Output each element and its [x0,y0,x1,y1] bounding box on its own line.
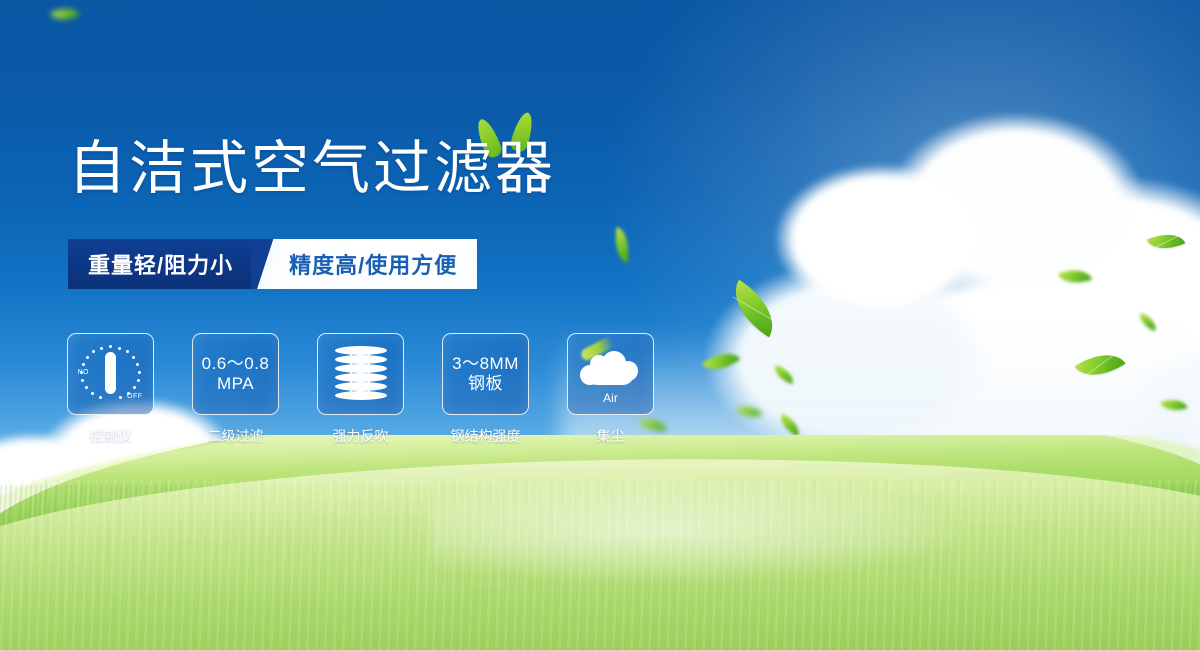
subtitle-right-segment: 精度高/使用方便 [281,239,477,289]
pressure-unit: MPA [202,374,270,394]
page-title: 自洁式空气过滤器 [68,140,556,198]
feature-item-two-stage-filter[interactable]: 0.6～0.8 MPA 二级过滤 [193,333,278,446]
feature-item-control-panel[interactable]: NO OFF [68,333,153,446]
cloud-body [586,363,634,385]
feature-label: 钢结构强度 [451,426,521,446]
pressure-text-icon: 0.6～0.8 MPA [202,354,270,394]
feature-icon-box: 3～8MM 钢板 [442,333,529,415]
feature-label: 控制仪 [90,426,132,446]
feature-label: 集尘 [597,426,625,446]
pressure-value: 0.6～0.8 [202,354,270,373]
subtitle-left-segment: 重量轻/阻力小 [68,239,251,289]
subtitle-slant-divider [251,239,281,289]
cloud-air-icon: Air [578,345,644,403]
product-hero-banner: 自洁式空气过滤器 重量轻/阻力小 精度高/使用方便 NO OFF [0,0,1200,650]
steel-thickness: 3～8MM [452,354,519,373]
air-label: Air [578,391,644,405]
subtitle-bar: 重量轻/阻力小 精度高/使用方便 [68,239,477,289]
steel-material: 钢板 [452,374,519,394]
feature-icon-box: 0.6～0.8 MPA [192,333,279,415]
filter-cartridge-icon [334,345,388,403]
feature-list: NO OFF [68,333,653,446]
control-dial-icon: NO OFF [78,343,144,405]
feature-item-dust-collection[interactable]: Air 集尘 [568,333,653,446]
feature-item-pulse-backwash[interactable]: 强力反吹 [318,333,403,446]
feature-icon-box [317,333,404,415]
feature-icon-box: NO OFF [67,333,154,415]
feature-label: 二级过滤 [208,426,264,446]
feature-icon-box: Air [567,333,654,415]
feature-label: 强力反吹 [333,426,389,446]
grass-path [430,478,1190,608]
feature-item-steel-strength[interactable]: 3～8MM 钢板 钢结构强度 [443,333,528,446]
steel-plate-text-icon: 3～8MM 钢板 [452,354,519,394]
dial-lever [105,352,116,394]
grass-field [0,435,1200,650]
